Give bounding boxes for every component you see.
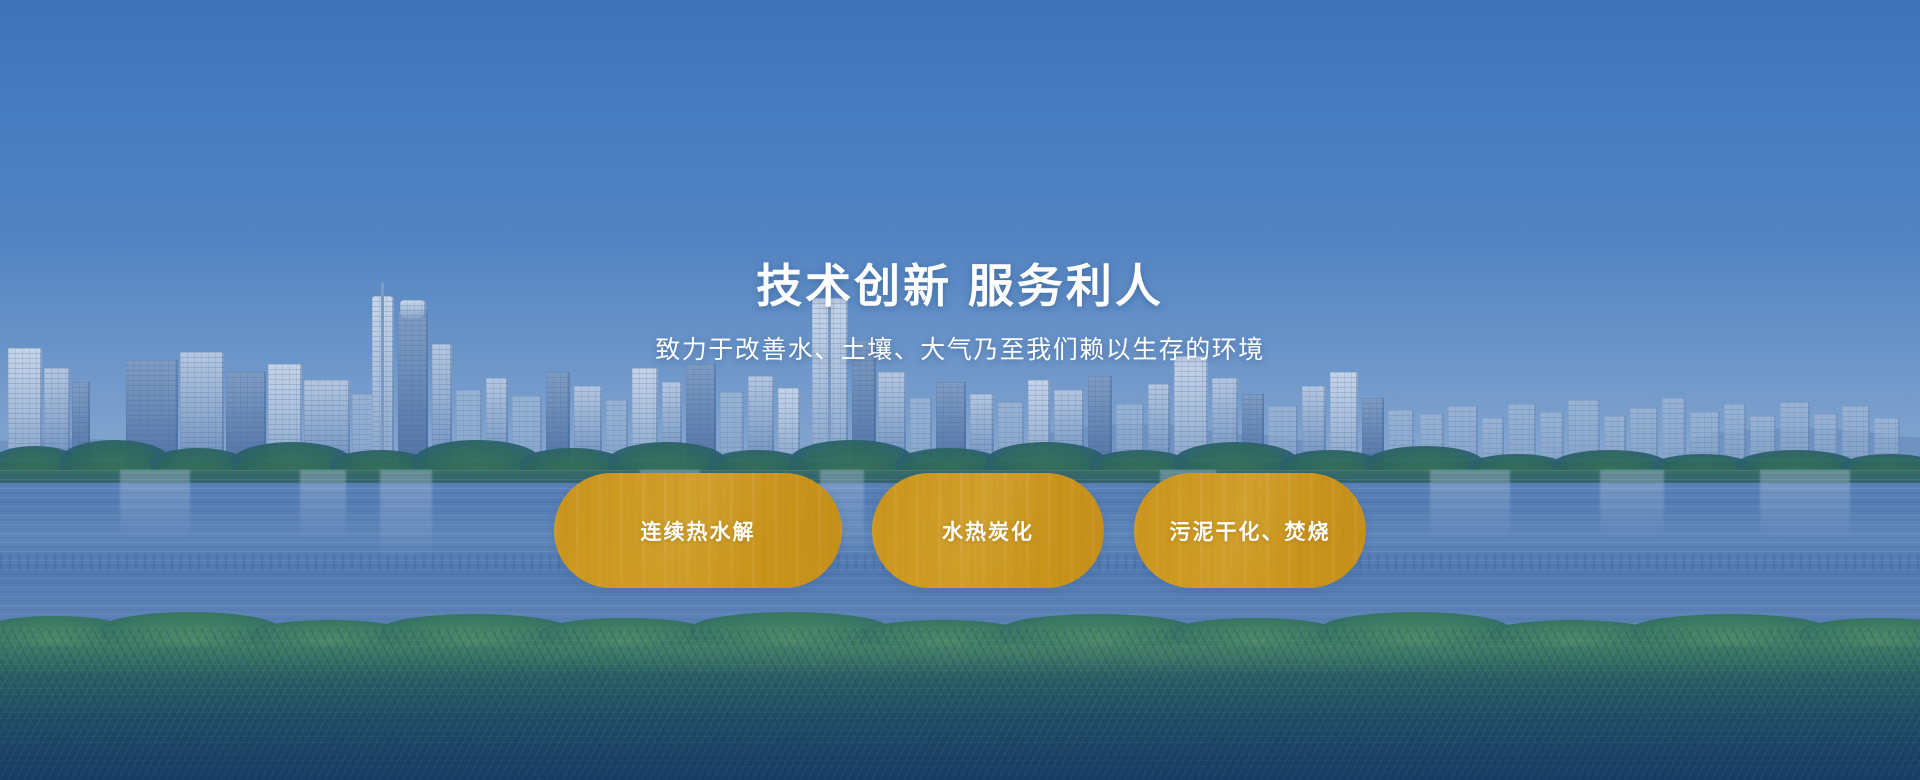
hero-copy: 技术创新 服务利人 致力于改善水、土壤、大气乃至我们赖以生存的环境	[0, 258, 1920, 367]
cta-button-hydrothermal-carbonization[interactable]: 水热炭化	[872, 473, 1104, 588]
cta-label-2: 水热炭化	[942, 516, 1034, 546]
cta-button-continuous-thermal-hydrolysis[interactable]: 连续热水解	[554, 473, 842, 588]
hero-banner: 技术创新 服务利人 致力于改善水、土壤、大气乃至我们赖以生存的环境 连续热水解 …	[0, 0, 1920, 780]
hero-headline: 技术创新 服务利人	[0, 258, 1920, 314]
hero-subheadline: 致力于改善水、土壤、大气乃至我们赖以生存的环境	[0, 334, 1920, 367]
hero-cta-group: 连续热水解 水热炭化 污泥干化、焚烧	[0, 473, 1920, 588]
mangrove-foreground	[0, 628, 1920, 780]
cta-label-3: 污泥干化、焚烧	[1170, 516, 1331, 546]
cta-label-1: 连续热水解	[641, 516, 756, 546]
cta-button-sludge-drying-incineration[interactable]: 污泥干化、焚烧	[1134, 473, 1366, 588]
